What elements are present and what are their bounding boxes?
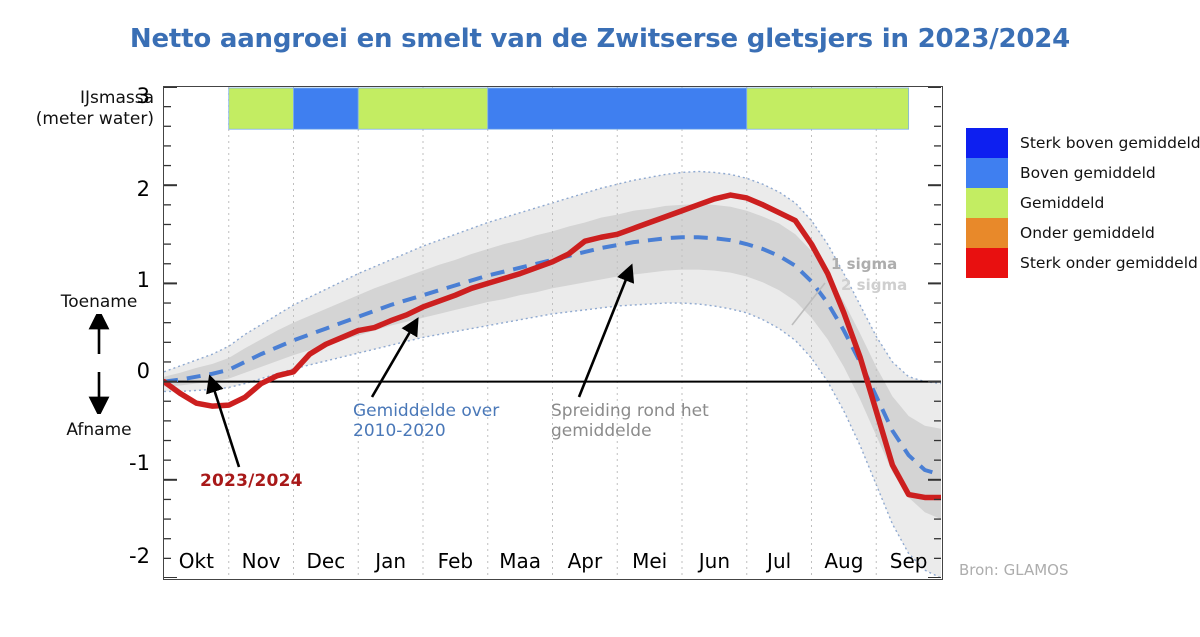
x-label-feb: Feb	[438, 549, 473, 573]
legend-label-0: Sterk boven gemiddeld	[1020, 134, 1200, 152]
status-bar-segment-0	[229, 88, 294, 129]
legend-label-3: Onder gemiddeld	[1020, 224, 1155, 242]
annotation-mean-line: Gemiddelde over 2010-2020	[353, 402, 499, 441]
legend-item-3: Onder gemiddeld	[966, 218, 1196, 248]
decrease-label: Afname	[66, 420, 131, 440]
legend-swatch-1	[966, 158, 1008, 188]
chart-plot-area: OktNovDecJanFebMaaAprMeiJunJulAugSep 202…	[163, 86, 943, 580]
source-attribution: Bron: GLAMOS	[959, 561, 1069, 579]
annotation-current-season: 2023/2024	[200, 472, 303, 492]
increase-decrease-arrows	[79, 314, 119, 414]
y-tick-2: 2	[110, 177, 150, 201]
x-label-okt: Okt	[179, 549, 214, 573]
annotation-sigma1: 1 sigma	[831, 256, 897, 273]
x-label-jun: Jun	[699, 549, 730, 573]
x-label-nov: Nov	[242, 549, 281, 573]
annotation-sigma2: 2 sigma	[841, 277, 907, 294]
legend-label-4: Sterk onder gemiddeld	[1020, 254, 1198, 272]
legend-item-4: Sterk onder gemiddeld	[966, 248, 1196, 278]
x-label-aug: Aug	[824, 549, 863, 573]
status-bar-segment-1	[294, 88, 359, 129]
y-tick-3: 3	[110, 84, 150, 108]
legend-item-1: Boven gemiddeld	[966, 158, 1196, 188]
x-label-dec: Dec	[307, 549, 346, 573]
x-label-apr: Apr	[568, 549, 603, 573]
status-bar-segment-4	[747, 88, 909, 129]
arrow-current-season	[212, 383, 239, 467]
y-tick-1: 1	[110, 268, 150, 292]
legend-swatch-0	[966, 128, 1008, 158]
increase-label: Toename	[61, 292, 138, 312]
status-bar-segment-2	[358, 88, 488, 129]
page-title: Netto aangroei en smelt van de Zwitserse…	[0, 24, 1200, 54]
legend-swatch-3	[966, 218, 1008, 248]
chart-legend: Sterk boven gemiddeld Boven gemiddeld Ge…	[966, 128, 1196, 278]
chart-canvas	[164, 87, 941, 578]
x-label-jan: Jan	[375, 549, 406, 573]
y-axis-title-line2: (meter water)	[36, 109, 154, 130]
status-bar-segment-3	[488, 88, 747, 129]
y-tick-minus1: -1	[104, 451, 150, 475]
y-tick-minus2: -2	[104, 544, 150, 568]
x-label-jul: Jul	[767, 549, 791, 573]
annotation-spread: Spreiding rond het gemiddelde	[551, 402, 709, 441]
x-label-maa: Maa	[499, 549, 541, 573]
legend-label-2: Gemiddeld	[1020, 194, 1104, 212]
legend-swatch-2	[966, 188, 1008, 218]
legend-label-1: Boven gemiddeld	[1020, 164, 1156, 182]
legend-swatch-4	[966, 248, 1008, 278]
legend-item-2: Gemiddeld	[966, 188, 1196, 218]
legend-item-0: Sterk boven gemiddeld	[966, 128, 1196, 158]
x-label-mei: Mei	[632, 549, 667, 573]
x-label-sep: Sep	[890, 549, 928, 573]
